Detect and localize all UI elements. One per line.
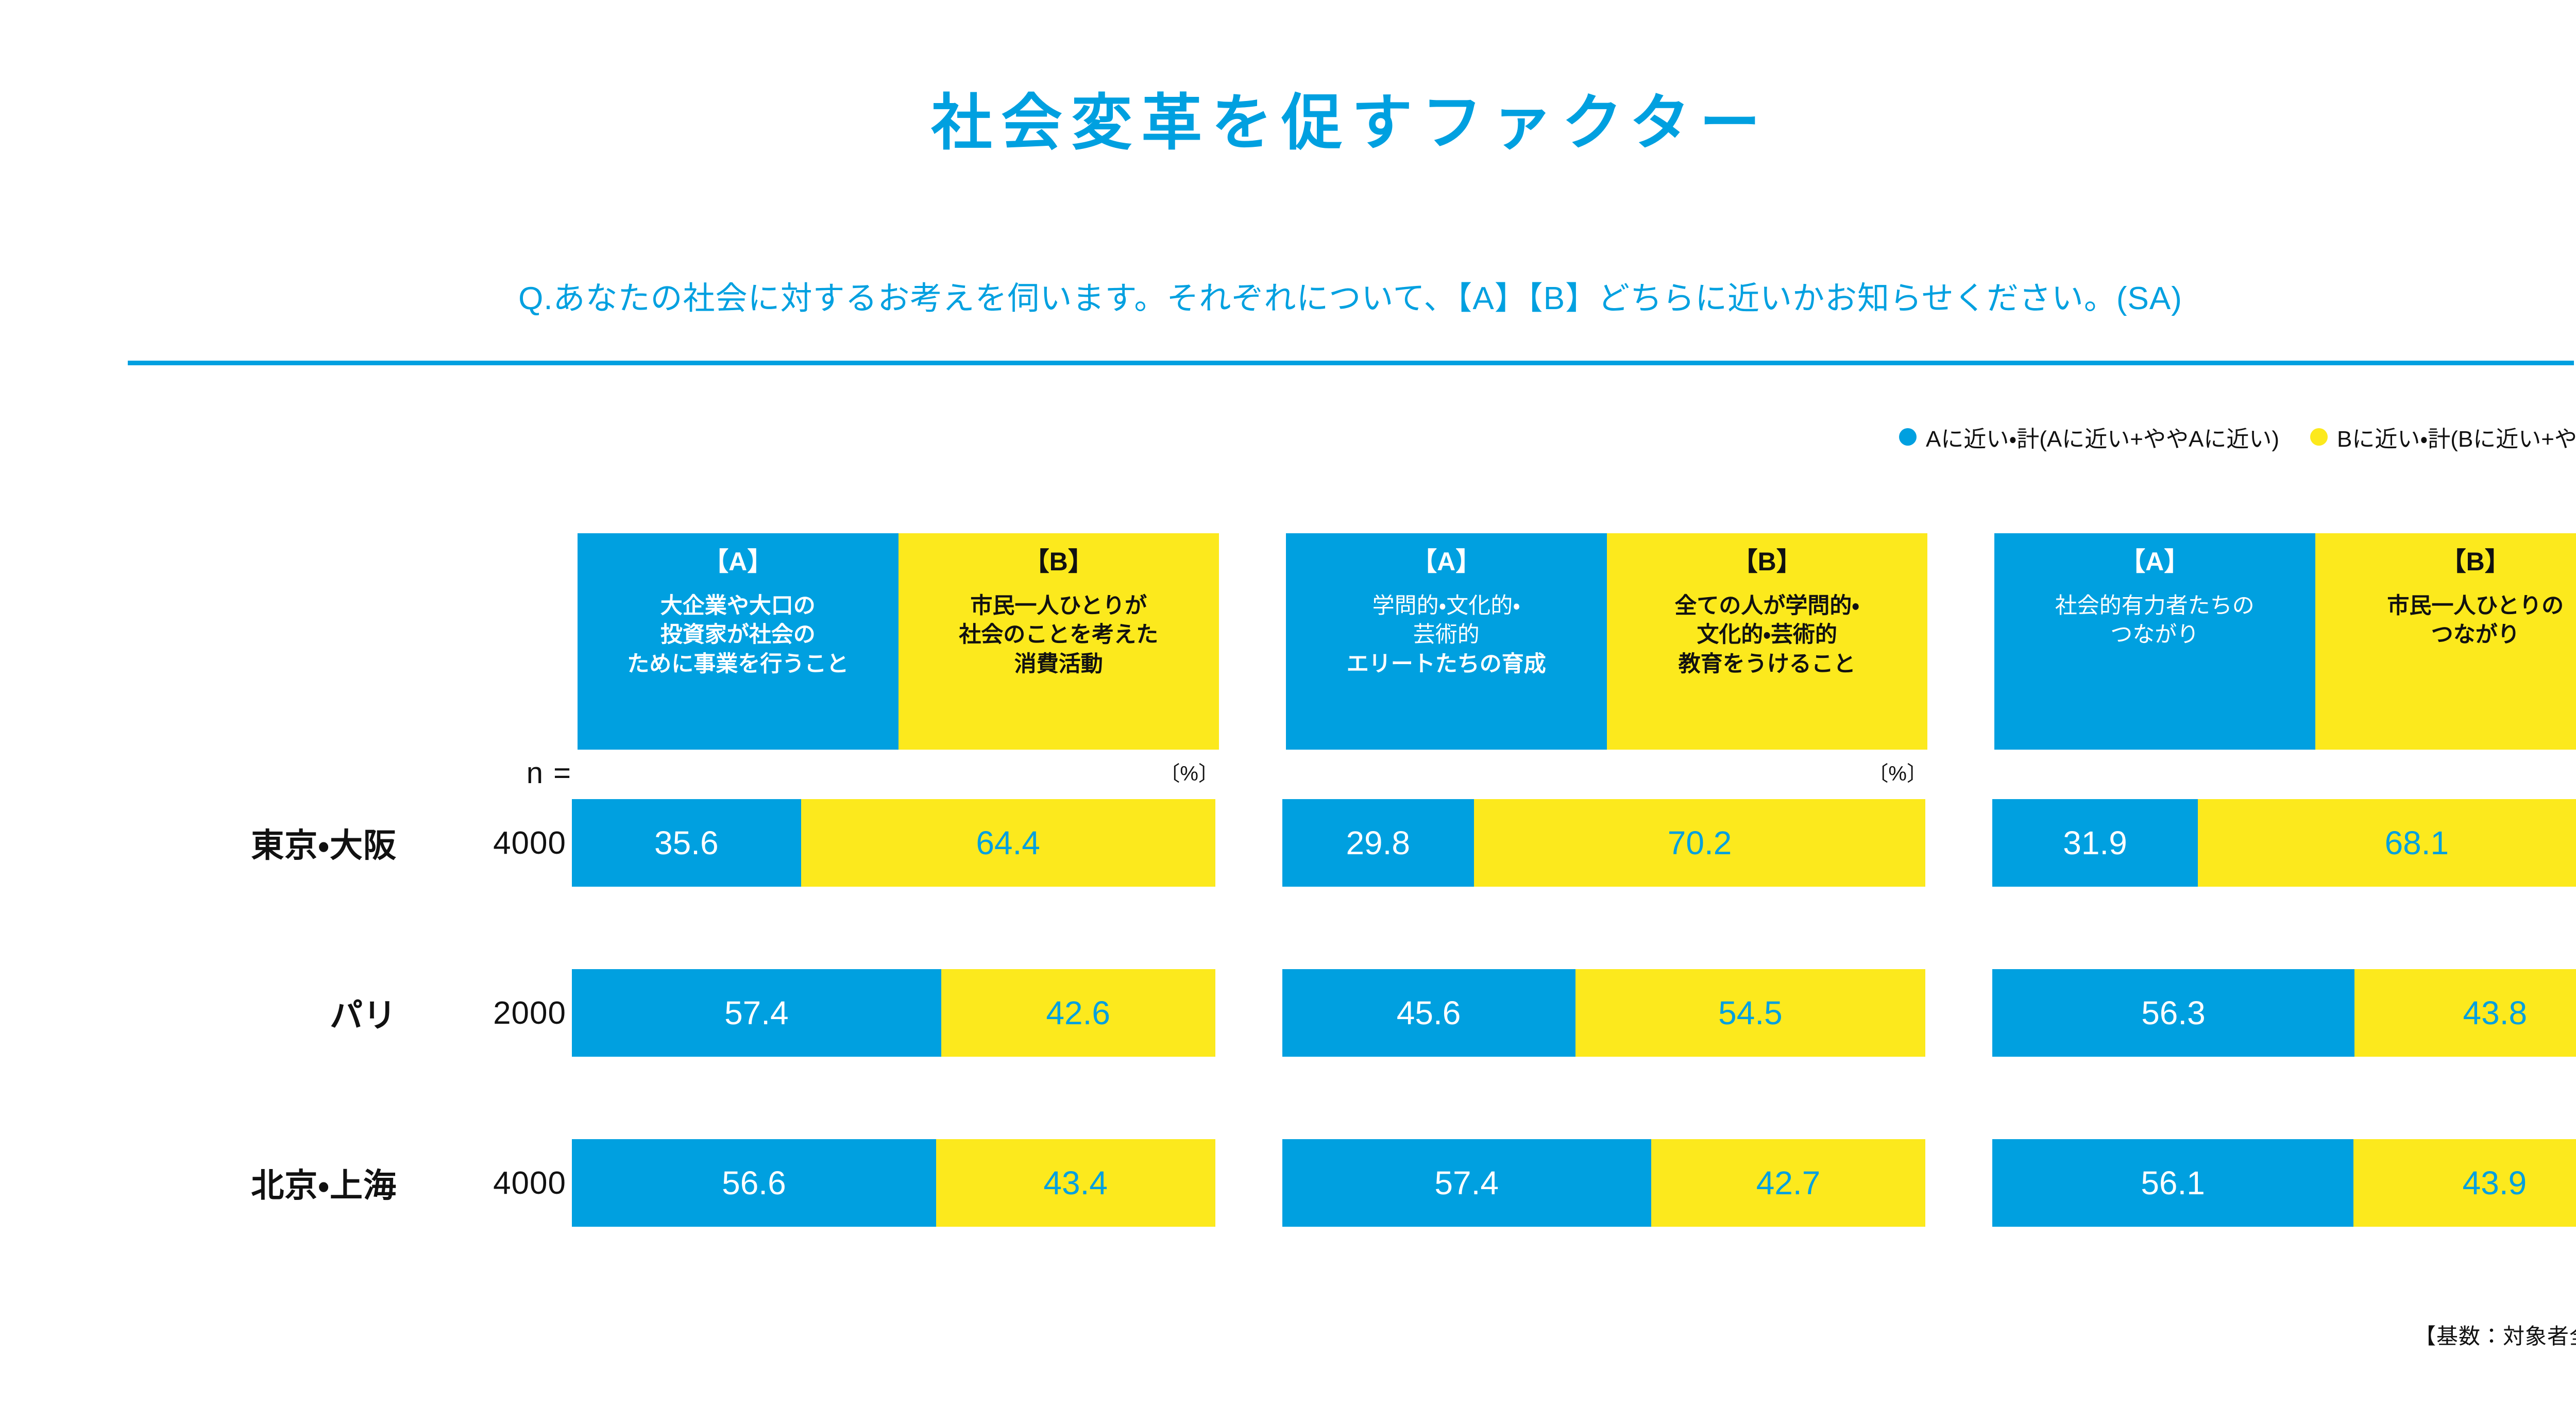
panel-1-b-line-2: 社会のことを考えた (959, 620, 1158, 650)
bar-seg-b: 43.8 (2354, 969, 2576, 1057)
bar-seg-a: 57.4 (572, 969, 941, 1057)
bar-seg-b: 68.1 (2198, 799, 2576, 887)
bar-seg-a: 56.6 (572, 1139, 936, 1227)
percent-unit-1: 〔%〕 (578, 750, 1219, 787)
panel-1-a-tag: 【A】 (703, 546, 773, 578)
panel-1-b-tag: 【B】 (1024, 546, 1094, 578)
panel-2-a-text: 学問的・文化的・ 芸術的 エリートたちの育成 (1347, 591, 1546, 679)
panel-3-b-text: 市民一人ひとりの つながり (2387, 591, 2564, 650)
bar-seg-a: 56.3 (1992, 969, 2354, 1057)
panel-header-1: 【A】 大企業や大口の 投資家が社会の ために事業を行うこと 【B】 市民一人ひ… (578, 533, 1219, 750)
bar-seg-a: 57.4 (1282, 1139, 1651, 1227)
panel-2-b-text: 全ての人が学問的・ 文化的・芸術的 教育をうけること (1674, 591, 1859, 679)
chart-area: 【A】 大企業や大口の 投資家が社会の ために事業を行うこと 【B】 市民一人ひ… (0, 533, 2576, 1304)
bar-p3-tokyo-osaka[interactable]: 31.9 68.1 (1992, 799, 2576, 887)
bar-p3-paris[interactable]: 56.3 43.8 (1992, 969, 2576, 1057)
bar-seg-a: 35.6 (572, 799, 801, 887)
bar-p2-paris[interactable]: 45.6 54.5 (1282, 969, 1926, 1057)
panel-3-b-line-1: 市民一人ひとりの (2387, 591, 2564, 621)
bar-p2-beijing-shanghai[interactable]: 57.4 42.7 (1282, 1139, 1926, 1227)
panel-2-option-b[interactable]: 【B】 全ての人が学問的・ 文化的・芸術的 教育をうけること (1607, 533, 1928, 750)
percent-unit-2: 〔%〕 (1286, 750, 1927, 787)
bar-p1-paris[interactable]: 57.4 42.6 (572, 969, 1215, 1057)
percent-unit-3: 〔%〕 (1994, 750, 2576, 787)
panel-1-b-line-3: 消費活動 (959, 650, 1158, 679)
row-label-beijing-shanghai: 北京・上海 (0, 1159, 397, 1207)
bar-seg-b: 42.7 (1651, 1139, 1926, 1227)
panel-2-option-a[interactable]: 【A】 学問的・文化的・ 芸術的 エリートたちの育成 (1286, 533, 1607, 750)
panel-2-b-line-3: 教育をうけること (1674, 650, 1859, 679)
panel-2-b-line-1: 全ての人が学問的・ (1674, 591, 1859, 621)
row-label-paris: パリ (0, 989, 397, 1037)
legend-item-b[interactable]: Bに近い・計(Bに近い+ややBに近い) (2310, 420, 2576, 453)
row-bars-paris: 57.4 42.6 45.6 54.5 56.3 43.8 (572, 969, 2576, 1057)
row-n-tokyo-osaka: 4000 (397, 825, 572, 861)
panel-3-b-line-2: つながり (2387, 620, 2564, 650)
bar-seg-b: 43.4 (936, 1139, 1215, 1227)
bar-p1-tokyo-osaka[interactable]: 35.6 64.4 (572, 799, 1215, 887)
legend-label-b: Bに近い・計(Bに近い+ややBに近い) (2337, 420, 2576, 453)
n-label: n = (397, 756, 572, 790)
header-card-2: 【A】 学問的・文化的・ 芸術的 エリートたちの育成 【B】 全ての人が学問的・… (1286, 533, 1927, 750)
percent-unit-strip: 〔%〕 〔%〕 〔%〕 (0, 750, 2576, 787)
row-bars-beijing-shanghai: 56.6 43.4 57.4 42.7 56.1 43.9 (572, 1139, 2576, 1227)
table-row: 東京・大阪 4000 35.6 64.4 29.8 70.2 31.9 68.1 (0, 794, 2576, 892)
panel-1-option-b[interactable]: 【B】 市民一人ひとりが 社会のことを考えた 消費活動 (899, 533, 1219, 750)
row-n-paris: 2000 (397, 995, 572, 1031)
panel-3-a-tag: 【A】 (2120, 546, 2190, 578)
panel-3-b-tag: 【B】 (2441, 546, 2511, 578)
panel-header-row: 【A】 大企業や大口の 投資家が社会の ために事業を行うこと 【B】 市民一人ひ… (0, 533, 2576, 750)
legend: Aに近い・計(Aに近い+ややAに近い) Bに近い・計(Bに近い+ややBに近い) (0, 420, 2576, 453)
panel-2-a-line-3: エリートたちの育成 (1347, 650, 1546, 679)
panel-1-a-line-3: ために事業を行うこと (627, 650, 849, 679)
legend-item-a[interactable]: Aに近い・計(Aに近い+ややAに近い) (1899, 420, 2279, 453)
panel-1-b-line-1: 市民一人ひとりが (959, 591, 1158, 621)
panel-1-b-text: 市民一人ひとりが 社会のことを考えた 消費活動 (959, 591, 1158, 679)
panel-2-a-line-1: 学問的・文化的・ (1347, 591, 1546, 621)
page-title: 社会変革を促すファクター (0, 90, 2576, 157)
panel-1-a-line-2: 投資家が社会の (627, 620, 849, 650)
bar-seg-b: 42.6 (941, 969, 1215, 1057)
panel-1-option-a[interactable]: 【A】 大企業や大口の 投資家が社会の ために事業を行うこと (578, 533, 899, 750)
panel-2-b-tag: 【B】 (1732, 546, 1802, 578)
bar-seg-b: 70.2 (1474, 799, 1926, 887)
table-row: 北京・上海 4000 56.6 43.4 57.4 42.7 56.1 43.9 (0, 1134, 2576, 1232)
yellow-dot-icon (2310, 428, 2328, 446)
legend-label-a: Aに近い・計(Aに近い+ややAに近い) (1926, 420, 2279, 453)
blue-dot-icon (1899, 428, 1917, 446)
header-card-3: 【A】 社会的有力者たちの つながり 【B】 市民一人ひとりの つながり (1994, 533, 2576, 750)
bar-p1-beijing-shanghai[interactable]: 56.6 43.4 (572, 1139, 1215, 1227)
row-label-tokyo-osaka: 東京・大阪 (0, 819, 397, 867)
panel-3-a-text: 社会的有力者たちの つながり (2055, 591, 2255, 650)
bar-seg-b: 54.5 (1575, 969, 1926, 1057)
panel-1-a-text: 大企業や大口の 投資家が社会の ために事業を行うこと (627, 591, 849, 679)
panel-2-b-line-2: 文化的・芸術的 (1674, 620, 1859, 650)
bar-seg-a: 56.1 (1992, 1139, 2353, 1227)
footnote: 【基数：対象者全員】 (0, 1319, 2576, 1350)
panel-3-a-line-2: つながり (2055, 620, 2255, 650)
panel-2-a-tag: 【A】 (1411, 546, 1481, 578)
row-bars-tokyo-osaka: 35.6 64.4 29.8 70.2 31.9 68.1 (572, 799, 2576, 887)
bar-seg-b: 64.4 (801, 799, 1215, 887)
panel-3-a-line-1: 社会的有力者たちの (2055, 591, 2255, 621)
survey-question: Q.あなたの社会に対するお考えを伺います。それぞれについて、【A】【B】どちらに… (0, 280, 2576, 318)
bar-seg-a: 29.8 (1282, 799, 1474, 887)
panel-header-2: 【A】 学問的・文化的・ 芸術的 エリートたちの育成 【B】 全ての人が学問的・… (1286, 533, 1927, 750)
row-n-beijing-shanghai: 4000 (397, 1165, 572, 1201)
panel-2-a-line-2: 芸術的 (1347, 620, 1546, 650)
bar-p3-beijing-shanghai[interactable]: 56.1 43.9 (1992, 1139, 2576, 1227)
header-divider (128, 361, 2574, 365)
bar-seg-a: 31.9 (1992, 799, 2197, 887)
axis-meta-row: n = 〔%〕 〔%〕 〔%〕 (0, 750, 2576, 794)
panel-header-3: 【A】 社会的有力者たちの つながり 【B】 市民一人ひとりの つながり (1994, 533, 2576, 750)
panel-3-option-a[interactable]: 【A】 社会的有力者たちの つながり (1994, 533, 2315, 750)
bar-p2-tokyo-osaka[interactable]: 29.8 70.2 (1282, 799, 1926, 887)
bar-seg-a: 45.6 (1282, 969, 1575, 1057)
panel-1-a-line-1: 大企業や大口の (627, 591, 849, 621)
bar-seg-b: 43.9 (2353, 1139, 2576, 1227)
table-row: パリ 2000 57.4 42.6 45.6 54.5 56.3 43.8 (0, 964, 2576, 1062)
header-card-1: 【A】 大企業や大口の 投資家が社会の ために事業を行うこと 【B】 市民一人ひ… (578, 533, 1219, 750)
panel-3-option-b[interactable]: 【B】 市民一人ひとりの つながり (2315, 533, 2576, 750)
